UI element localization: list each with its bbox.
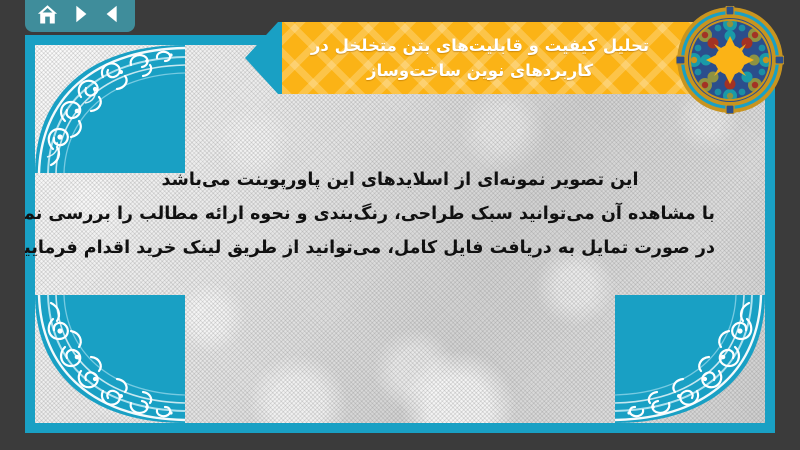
slide-frame: این تصویر نمونه‌ای از اسلایدهای این پاور… <box>25 35 775 433</box>
slide-viewer: این تصویر نمونه‌ای از اسلایدهای این پاور… <box>0 0 800 450</box>
body-line-2: با مشاهده آن می‌توانید سبک طراحی، رنگ‌بن… <box>85 197 715 231</box>
home-button[interactable] <box>35 2 59 26</box>
next-button[interactable] <box>68 2 92 26</box>
prev-triangle-icon <box>102 3 124 25</box>
prev-button[interactable] <box>101 2 125 26</box>
body-line-1: این تصویر نمونه‌ای از اسلایدهای این پاور… <box>85 163 715 197</box>
body-line-3: در صورت تمایل به دریافت فایل کامل، می‌تو… <box>85 231 715 265</box>
slide-body-text: این تصویر نمونه‌ای از اسلایدهای این پاور… <box>85 163 715 265</box>
next-triangle-icon <box>69 3 91 25</box>
navigation-bar <box>25 0 135 32</box>
home-icon <box>36 3 59 26</box>
